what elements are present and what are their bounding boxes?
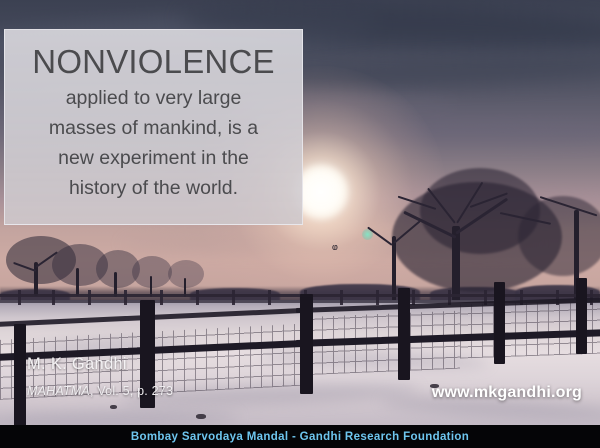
website-url[interactable]: www.mkgandhi.org [432, 384, 582, 402]
quote-source: MAHATMA, Vol. 5, p. 273 [27, 384, 173, 398]
tree-canopy [132, 256, 172, 288]
source-reference: , Vol. 5, p. 273 [90, 384, 173, 398]
fence-post [576, 278, 587, 354]
fence-post [398, 288, 410, 380]
fence-post [300, 294, 313, 394]
quote-line: applied to very large [19, 84, 288, 112]
tree-canopy [518, 196, 600, 276]
bird-icon: ⱷ [332, 243, 338, 252]
quote-panel: NONVIOLENCE applied to very large masses… [4, 29, 303, 225]
footer-bar: Bombay Sarvodaya Mandal - Gandhi Researc… [0, 425, 600, 448]
quote-line: masses of mankind, is a [19, 114, 288, 142]
fence-post [494, 282, 505, 364]
gandhi-quote-poster: ⱷ [0, 0, 600, 448]
tree-canopy [168, 260, 204, 288]
quote-line: history of the world. [19, 174, 288, 202]
footer-organization: Bombay Sarvodaya Mandal - Gandhi Researc… [131, 431, 469, 443]
quote-author: M. K. Gandhi [27, 355, 127, 374]
fence-post [14, 324, 26, 425]
quote-headline: NONVIOLENCE [19, 42, 288, 82]
quote-line: new experiment in the [19, 144, 288, 172]
source-title: MAHATMA [27, 384, 90, 398]
